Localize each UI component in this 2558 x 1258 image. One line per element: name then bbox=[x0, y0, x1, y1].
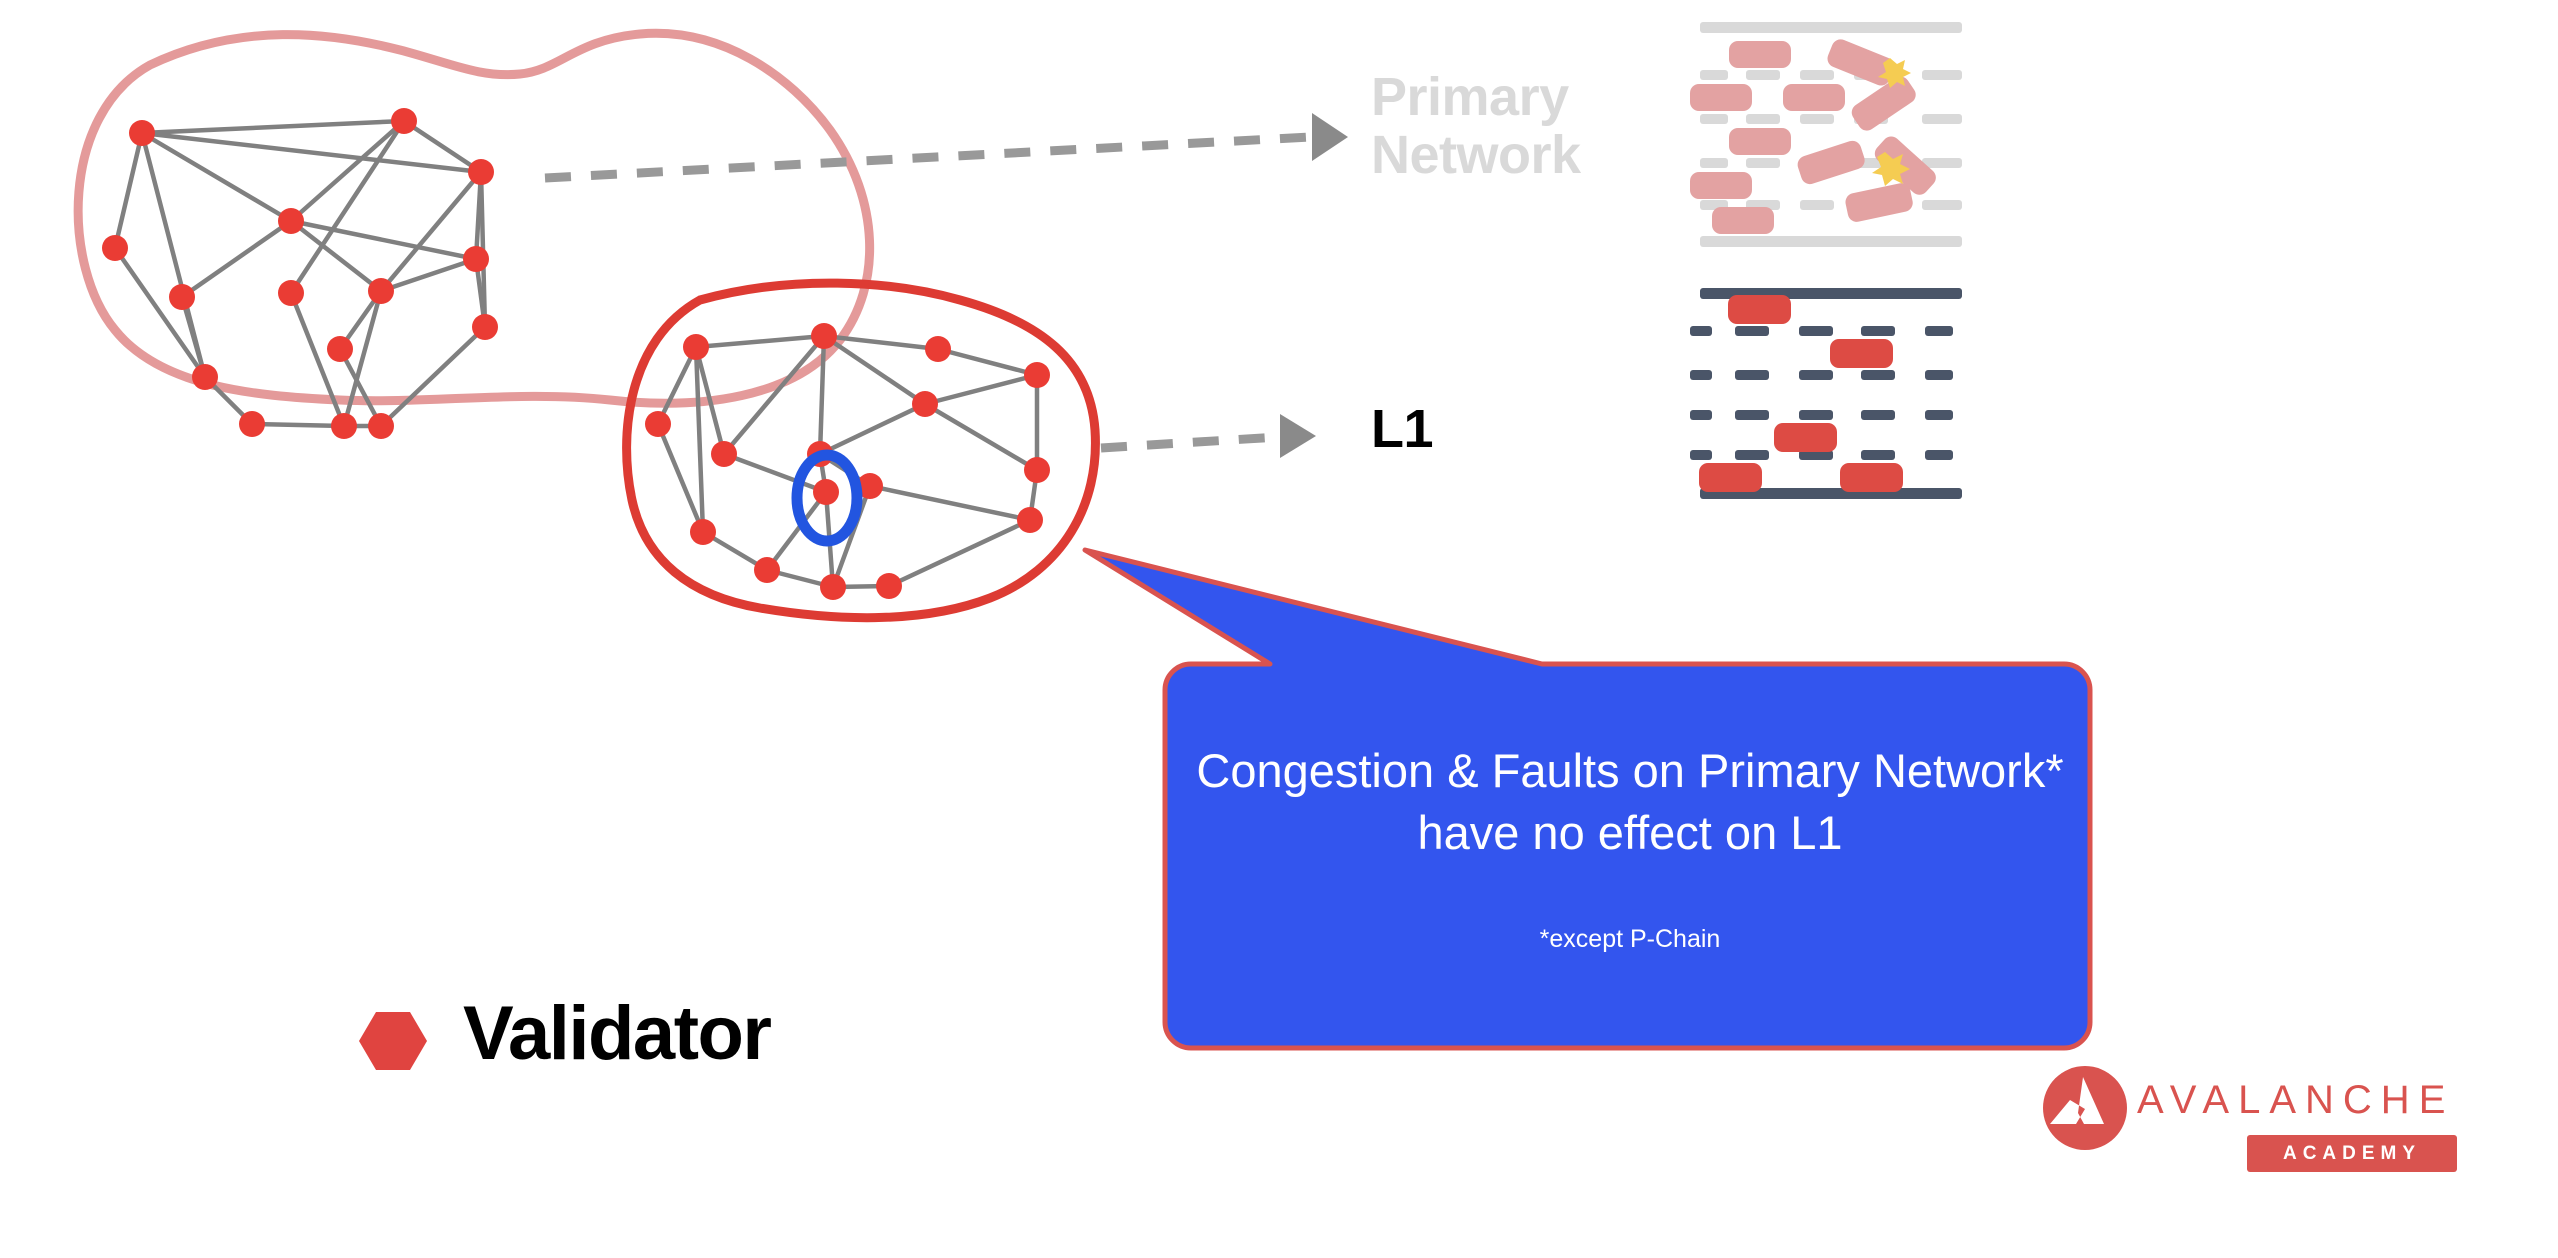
slide-canvas: Primary Network L1 Congestion & Faults o… bbox=[0, 0, 2558, 1258]
academy-chip: ACADEMY bbox=[2247, 1135, 2457, 1172]
avalanche-wordmark: AVALANCHE bbox=[2137, 1078, 2454, 1123]
l1-label: L1 bbox=[1371, 400, 1433, 458]
avalanche-logo-mark bbox=[2043, 1066, 2127, 1150]
callout-footnote: *except P-Chain bbox=[1180, 925, 2080, 954]
primary-network-label: Primary Network bbox=[1371, 68, 1581, 185]
validator-legend-hexagon bbox=[359, 1012, 427, 1070]
l1-chain bbox=[1690, 288, 1962, 499]
arrow-l1 bbox=[1101, 414, 1316, 458]
l1-blob-outline bbox=[627, 283, 1096, 618]
diagram-svg bbox=[0, 0, 2558, 1258]
primary-network-edges bbox=[115, 121, 485, 426]
validator-legend-label: Validator bbox=[463, 993, 771, 1075]
callout-main-text: Congestion & Faults on Primary Network* … bbox=[1180, 740, 2080, 864]
arrow-primary-network bbox=[545, 113, 1348, 178]
primary-network-chain bbox=[1690, 22, 1962, 247]
academy-wordmark: ACADEMY bbox=[2247, 1135, 2457, 1172]
